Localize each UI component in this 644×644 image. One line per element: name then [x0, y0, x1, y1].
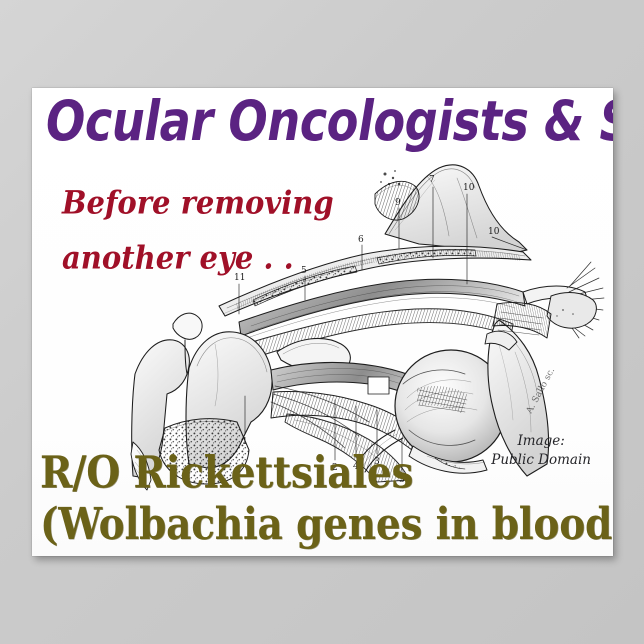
poster-canvas: 1 2 4 3 3 5 6 7 9 10 10 11 A. Sallo	[0, 0, 644, 644]
svg-text:6: 6	[358, 235, 364, 245]
bottom-caption-line-1: R/O Rickettsiales	[40, 447, 413, 499]
svg-text:7: 7	[429, 175, 435, 185]
bottom-caption-line-2: (Wolbachia genes in blood)	[40, 498, 613, 550]
svg-text:10: 10	[463, 183, 475, 193]
svg-text:1: 1	[242, 437, 248, 447]
subtitle-line-1: Before removing	[62, 184, 334, 221]
svg-text:10: 10	[488, 227, 500, 237]
page-title: Ocular Oncologists & Surgeons	[46, 94, 598, 151]
svg-text:9: 9	[395, 198, 401, 208]
subtitle-block: Before removing another eye . .	[62, 176, 334, 286]
subtitle-line-2: another eye . .	[62, 231, 334, 286]
bottom-caption: R/O Rickettsiales (Wolbachia genes in bl…	[40, 447, 613, 550]
poster-sheet: 1 2 4 3 3 5 6 7 9 10 10 11 A. Sallo	[32, 88, 613, 556]
